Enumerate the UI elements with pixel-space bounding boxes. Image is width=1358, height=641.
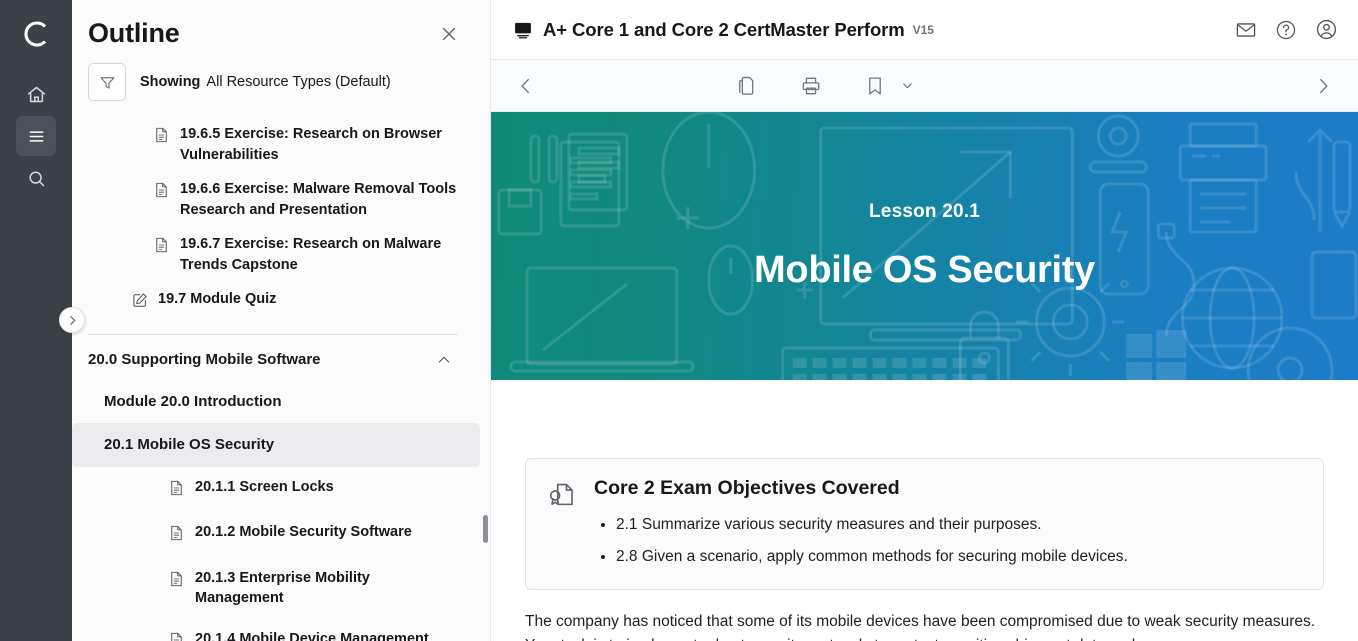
monitor-icon	[513, 20, 533, 40]
hero-lesson-number: Lesson 20.1	[869, 201, 980, 223]
copy-icon[interactable]	[736, 75, 758, 97]
list-item-label: 20.1.3 Enterprise Mobility Management	[195, 568, 460, 609]
list-item[interactable]: 19.6.7 Exercise: Research on Malware Tre…	[72, 227, 480, 282]
showing-label: Showing	[140, 74, 200, 90]
scrollbar-thumb[interactable]	[483, 515, 488, 543]
outline-tree: 19.6.5 Exercise: Research on Browser Vul…	[72, 117, 480, 641]
list-item[interactable]: 19.6.6 Exercise: Malware Removal Tools R…	[72, 172, 480, 227]
outline-scrollbar[interactable]	[483, 117, 488, 641]
search-icon[interactable]	[16, 158, 56, 198]
chevron-down-icon[interactable]	[900, 78, 915, 93]
comptia-c-logo[interactable]	[14, 12, 58, 56]
module-label: 20.0 Supporting Mobile Software	[88, 351, 321, 368]
list-item-label: 19.6.5 Exercise: Research on Browser Vul…	[180, 124, 460, 165]
list-item-label: 20.1.2 Mobile Security Software	[195, 522, 412, 543]
objective-item: 2.1 Summarize various security measures …	[616, 514, 1301, 536]
list-item-label: 20.1.4 Mobile Device Management	[195, 629, 429, 641]
document-icon	[154, 237, 170, 260]
objective-item: 2.8 Given a scenario, apply common metho…	[616, 546, 1301, 568]
list-item-label: 19.6.7 Exercise: Research on Malware Tre…	[180, 234, 460, 275]
document-icon	[154, 127, 170, 150]
certificate-document-icon	[546, 479, 578, 569]
user-account-icon[interactable]	[1315, 18, 1338, 41]
filter-icon[interactable]	[88, 63, 126, 101]
list-item[interactable]: Module 20.0 Introduction	[72, 380, 480, 423]
list-item[interactable]: 20.1.3 Enterprise Mobility Management	[72, 558, 480, 619]
document-icon	[169, 525, 185, 548]
list-item-label: 20.1.1 Screen Locks	[195, 477, 334, 498]
outline-header: Outline	[72, 0, 490, 53]
lesson-hero-banner: Lesson 20.1 Mobile OS Security	[491, 112, 1358, 380]
print-icon[interactable]	[800, 75, 822, 97]
document-icon	[154, 182, 170, 205]
chevron-up-icon[interactable]	[436, 352, 452, 368]
filter-row: Showing All Resource Types (Default)	[72, 53, 490, 117]
outline-panel: Outline Showing All Resource Types (Defa…	[72, 0, 491, 641]
mail-icon[interactable]	[1235, 19, 1257, 41]
module-header-20[interactable]: 20.0 Supporting Mobile Software	[72, 339, 480, 380]
lesson-body: Core 2 Exam Objectives Covered 2.1 Summa…	[491, 458, 1358, 641]
document-icon	[169, 480, 185, 503]
chevron-left-icon[interactable]	[515, 75, 537, 97]
showing-value[interactable]: All Resource Types (Default)	[206, 74, 390, 90]
list-item-label: 19.6.6 Exercise: Malware Removal Tools R…	[180, 179, 460, 220]
outline-scroll-area[interactable]: 19.6.5 Exercise: Research on Browser Vul…	[72, 117, 490, 641]
help-circle-icon[interactable]	[1275, 19, 1297, 41]
header-actions	[1235, 18, 1338, 41]
document-icon	[169, 632, 185, 641]
app-title: A+ Core 1 and Core 2 CertMaster Perform	[543, 19, 905, 41]
list-item-label: Module 20.0 Introduction	[104, 391, 282, 412]
list-item-label: 19.7 Module Quiz	[158, 289, 276, 310]
content-toolbar	[491, 60, 1358, 112]
app-version: V15	[913, 23, 934, 37]
list-item-selected[interactable]: 20.1 Mobile OS Security	[72, 423, 480, 466]
home-icon[interactable]	[16, 74, 56, 114]
hero-lesson-title: Mobile OS Security	[754, 249, 1095, 292]
close-icon[interactable]	[436, 21, 462, 47]
page-title: Outline	[88, 18, 180, 49]
panel-collapse-toggle[interactable]	[59, 307, 85, 333]
objectives-list: 2.1 Summarize various security measures …	[616, 514, 1301, 569]
outline-icon[interactable]	[16, 116, 56, 156]
list-item[interactable]: 19.6.5 Exercise: Research on Browser Vul…	[72, 117, 480, 172]
list-item[interactable]: 19.7 Module Quiz	[72, 282, 480, 322]
chevron-right-icon[interactable]	[1312, 75, 1334, 97]
app-root: Outline Showing All Resource Types (Defa…	[0, 0, 1358, 641]
lesson-content[interactable]: Lesson 20.1 Mobile OS Security Core	[491, 112, 1358, 641]
lesson-paragraph: The company has noticed that some of its…	[525, 610, 1324, 641]
list-item[interactable]: 20.1.1 Screen Locks	[72, 467, 480, 513]
list-item-label: 20.1 Mobile OS Security	[104, 434, 274, 455]
bookmark-icon[interactable]	[864, 75, 886, 97]
quiz-edit-icon	[132, 292, 148, 315]
section-divider	[88, 334, 458, 335]
callout-title: Core 2 Exam Objectives Covered	[594, 477, 1301, 500]
app-header: A+ Core 1 and Core 2 CertMaster Perform …	[491, 0, 1358, 60]
toolbar-tools	[736, 75, 915, 97]
list-item[interactable]: 20.1.2 Mobile Security Software	[72, 512, 480, 558]
hero-pattern-icons	[491, 112, 1358, 380]
document-icon	[169, 571, 185, 594]
main-content: A+ Core 1 and Core 2 CertMaster Perform …	[491, 0, 1358, 641]
exam-objectives-callout: Core 2 Exam Objectives Covered 2.1 Summa…	[525, 458, 1324, 590]
list-item[interactable]: 20.1.4 Mobile Device Management	[72, 619, 480, 641]
